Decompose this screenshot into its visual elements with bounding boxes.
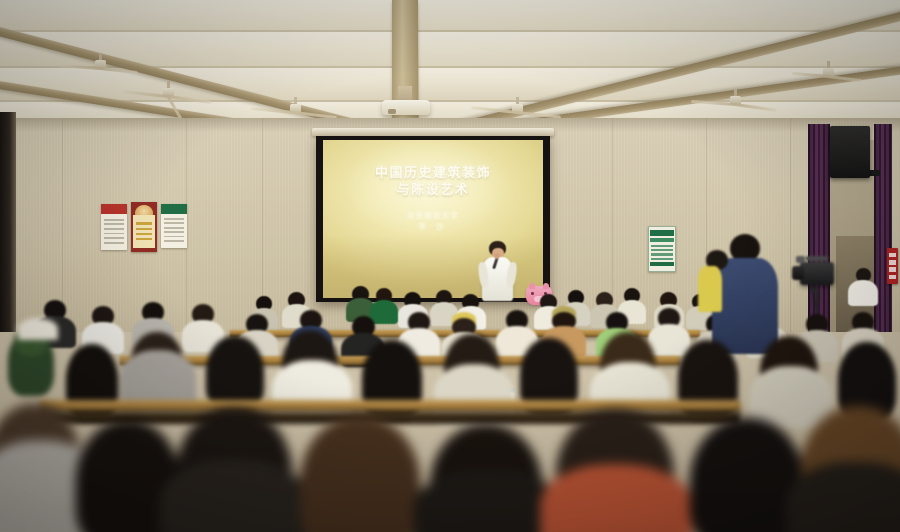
ceiling-projector — [382, 100, 430, 115]
left-doorway-dark — [0, 112, 16, 332]
slide-presenter-name: 李 沙 — [323, 221, 543, 232]
camera-body — [800, 262, 834, 285]
green-notice-board — [648, 226, 676, 272]
slide-title: 中国历史建筑装饰 与陈设艺术 — [323, 164, 543, 198]
tripod-head — [810, 286, 818, 293]
wall-speaker — [830, 126, 870, 178]
notice-poster-green — [161, 204, 187, 248]
camera-lens — [792, 266, 804, 280]
camera-viewfinder — [796, 256, 805, 263]
lecture-hall-photo: 中国历史建筑装饰 与陈设艺术 北京建筑大学 李 沙 — [0, 0, 900, 532]
camera-top-handle — [806, 256, 828, 261]
right-curtain — [808, 124, 830, 332]
screen-roller-housing — [312, 128, 554, 136]
award-board-crimson — [131, 202, 157, 252]
ceiling — [0, 0, 900, 132]
white-cap — [18, 318, 58, 340]
desk-row-near — [40, 400, 740, 412]
notice-poster-red — [101, 204, 127, 250]
fire-equipment-sign — [887, 248, 898, 284]
slide-subtitle: 北京建筑大学 — [323, 210, 543, 221]
